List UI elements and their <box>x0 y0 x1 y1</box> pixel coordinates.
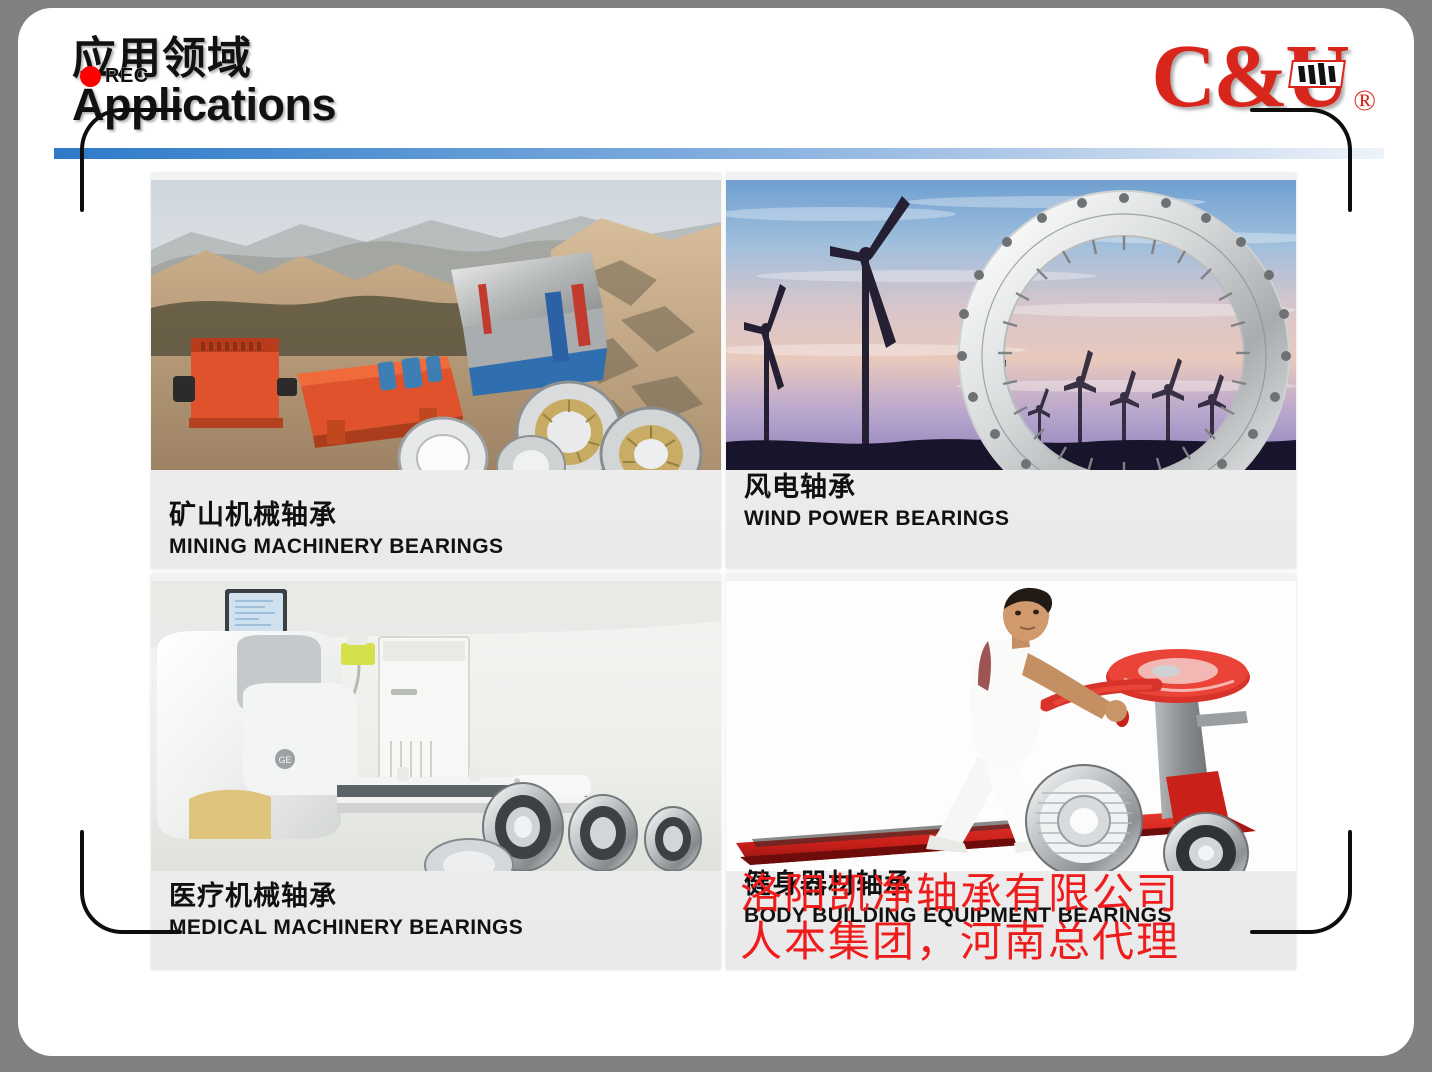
medical-photo: GE <box>151 581 721 871</box>
applications-grid: 矿山机械轴承 MINING MACHINERY BEARINGS <box>151 172 1296 969</box>
wind-title-chinese: 风电轴承 <box>744 472 1282 503</box>
mining-photo <box>151 180 721 470</box>
fitness-caption: 健身器材轴承 BODY BUILDING EQUIPMENT BEARINGS <box>744 869 1282 929</box>
medical-caption: 医疗机械轴承 MEDICAL MACHINERY BEARINGS <box>169 881 707 941</box>
bracket-bottom-right <box>1246 826 1356 938</box>
medical-scene-illustration: GE <box>151 581 721 871</box>
fitness-photo <box>726 581 1296 871</box>
logo-bars-icon <box>1288 60 1346 88</box>
recording-indicator: REC <box>80 65 149 88</box>
wind-caption: 风电轴承 WIND POWER BEARINGS <box>744 472 1282 532</box>
wind-title-english: WIND POWER BEARINGS <box>744 506 1282 532</box>
medical-title-english: MEDICAL MACHINERY BEARINGS <box>169 915 707 941</box>
bracket-bottom-left <box>76 826 186 938</box>
wind-photo <box>726 180 1296 470</box>
wind-scene-illustration <box>726 180 1296 470</box>
bracket-top-left <box>76 104 186 216</box>
mining-scene-illustration <box>151 180 721 470</box>
medical-title-chinese: 医疗机械轴承 <box>169 881 707 912</box>
fitness-title-english: BODY BUILDING EQUIPMENT BEARINGS <box>744 903 1282 929</box>
fitness-title-chinese: 健身器材轴承 <box>744 869 1282 900</box>
bracket-top-right <box>1246 104 1356 216</box>
mining-title-english: MINING MACHINERY BEARINGS <box>169 534 707 560</box>
registered-trademark-icon: ® <box>1353 84 1376 118</box>
slide-panel: 应用领域 Applications REC C&U ® <box>18 8 1414 1056</box>
mining-title-chinese: 矿山机械轴承 <box>169 500 707 531</box>
mining-caption: 矿山机械轴承 MINING MACHINERY BEARINGS <box>169 500 707 560</box>
application-card-mining[interactable]: 矿山机械轴承 MINING MACHINERY BEARINGS <box>151 172 721 568</box>
application-card-wind[interactable]: 风电轴承 WIND POWER BEARINGS <box>726 172 1296 568</box>
fitness-scene-illustration <box>726 581 1296 871</box>
header-divider <box>54 148 1384 159</box>
svg-text:GE: GE <box>278 755 291 765</box>
application-card-medical[interactable]: GE <box>151 573 721 969</box>
recording-label: REC <box>105 65 149 88</box>
record-dot-icon <box>80 66 101 87</box>
application-card-fitness[interactable]: 健身器材轴承 BODY BUILDING EQUIPMENT BEARINGS <box>726 573 1296 969</box>
